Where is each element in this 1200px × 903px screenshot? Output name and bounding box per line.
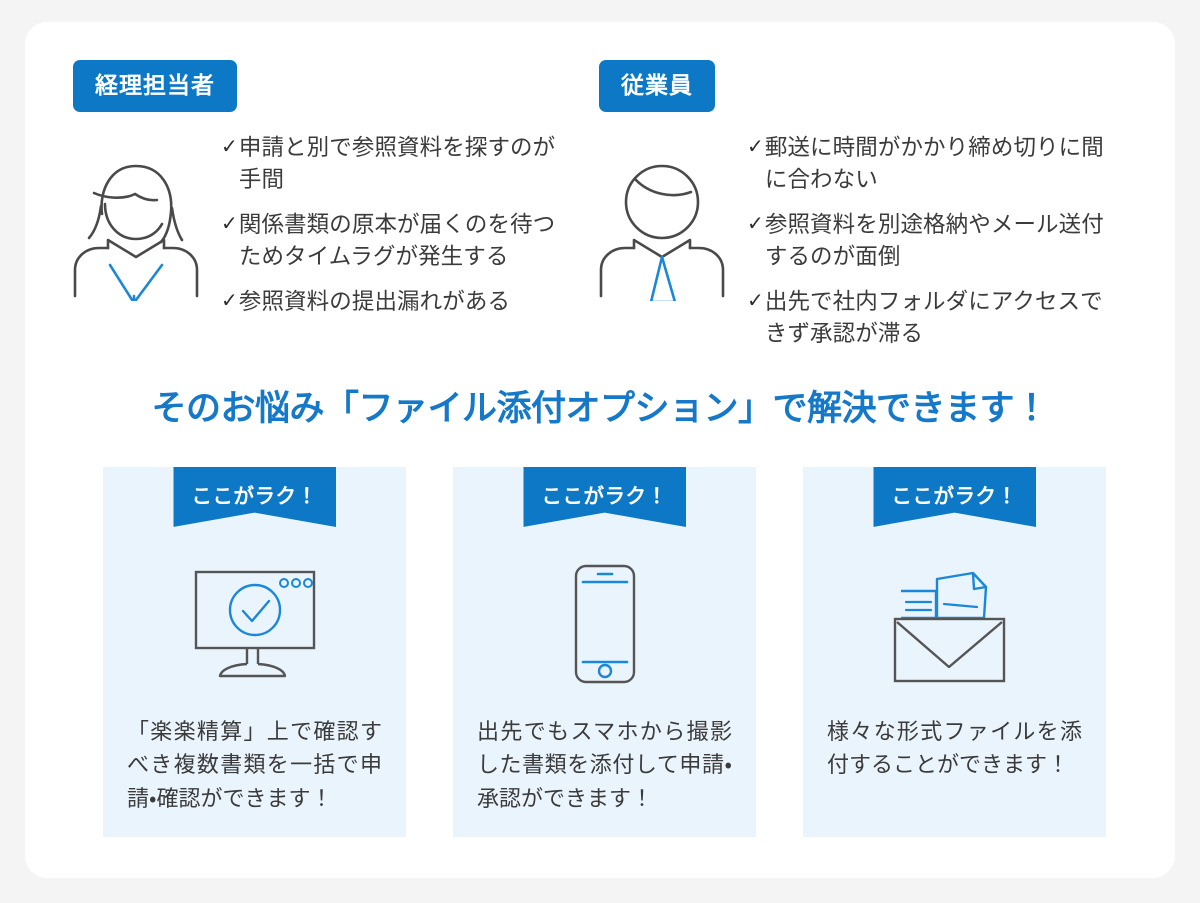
infographic-page: 経理担当者	[25, 22, 1175, 878]
persona-body: ✓ 郵送に時間がかかり締め切りに間に合わない ✓ 参照資料を別途格納やメール送付…	[587, 128, 1117, 350]
bullet-text: 関係書類の原本が届くのを待つためタイムラグが発生する	[239, 209, 557, 273]
bullet-item: ✓ 関係書類の原本が届くのを待つためタイムラグが発生する	[221, 209, 591, 273]
check-icon: ✓	[221, 132, 238, 163]
feature-card-envelope: ここがラク！ 様々な形式ファイルを添付することができます！	[803, 467, 1106, 837]
persona-badge-accounting: 経理担当者	[73, 60, 237, 112]
bullet-text: 郵送に時間がかかり締め切りに間に合わない	[765, 132, 1113, 196]
ribbon-banner: ここがラク！	[873, 467, 1036, 527]
ribbon-banner: ここがラク！	[173, 467, 336, 527]
persona-body: ✓ 申請と別で参照資料を探すのが手間 ✓ 関係書類の原本が届くのを待つためタイム…	[61, 128, 591, 318]
bullet-text: 申請と別で参照資料を探すのが手間	[239, 132, 557, 196]
bullet-item: ✓ 参照資料の提出漏れがある	[221, 286, 591, 318]
bullet-text: 参照資料を別途格納やメール送付するのが面倒	[765, 209, 1113, 273]
check-icon: ✓	[221, 209, 238, 240]
card-description: 様々な形式ファイルを添付することができます！	[827, 715, 1082, 782]
feature-cards: ここがラク！ 「楽楽精算」上で確認すべき複数書類を一括で申請・確認ができます！ …	[103, 467, 1108, 837]
smartphone-icon	[453, 559, 756, 689]
check-icon: ✓	[221, 286, 238, 317]
bullet-item: ✓ 郵送に時間がかかり締め切りに間に合わない	[747, 132, 1117, 196]
persona-accounting: 経理担当者	[61, 60, 591, 318]
bullet-item: ✓ 出先で社内フォルダにアクセスできず承認が滞る	[747, 286, 1117, 350]
envelope-documents-icon	[803, 559, 1106, 689]
feature-card-smartphone: ここがラク！ 出先でもスマホから撮影した書類を添付して申請・承認ができます！	[453, 467, 756, 837]
bullet-text: 参照資料の提出漏れがある	[239, 286, 557, 318]
card-description: 出先でもスマホから撮影した書類を添付して申請・承認ができます！	[477, 715, 732, 815]
solution-headline: そのお悩み「ファイル添付オプション」で解決できます！	[25, 380, 1175, 431]
check-icon: ✓	[747, 132, 764, 163]
check-icon: ✓	[747, 209, 764, 240]
check-icon: ✓	[747, 286, 764, 317]
bullet-item: ✓ 参照資料を別途格納やメール送付するのが面倒	[747, 209, 1117, 273]
persona-bullets: ✓ 申請と別で参照資料を探すのが手間 ✓ 関係書類の原本が届くのを待つためタイム…	[221, 128, 591, 318]
card-description: 「楽楽精算」上で確認すべき複数書類を一括で申請・確認ができます！	[127, 715, 382, 815]
ribbon-banner: ここがラク！	[523, 467, 686, 527]
persona-bullets: ✓ 郵送に時間がかかり締め切りに間に合わない ✓ 参照資料を別途格納やメール送付…	[747, 128, 1117, 350]
feature-card-monitor: ここがラク！ 「楽楽精算」上で確認すべき複数書類を一括で申請・確認ができます！	[103, 467, 406, 837]
monitor-check-icon	[103, 559, 406, 689]
persona-badge-employee: 従業員	[599, 60, 715, 112]
male-office-worker-icon	[587, 128, 747, 306]
persona-employee: 従業員	[587, 60, 1117, 350]
personas-section: 経理担当者	[25, 22, 1175, 352]
bullet-item: ✓ 申請と別で参照資料を探すのが手間	[221, 132, 591, 196]
bullet-text: 出先で社内フォルダにアクセスできず承認が滞る	[765, 286, 1113, 350]
female-office-worker-icon	[61, 128, 221, 306]
